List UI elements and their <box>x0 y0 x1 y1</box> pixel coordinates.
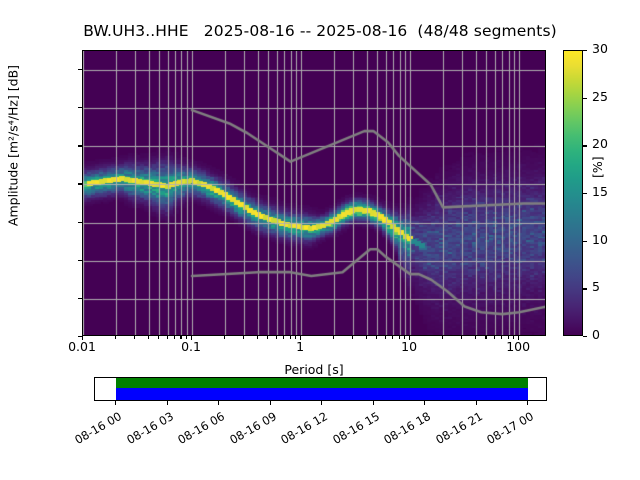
ppsd-plot-area <box>82 50 546 336</box>
x-axis-minor-tick-mark <box>134 336 135 339</box>
x-axis-minor-tick-mark <box>475 336 476 339</box>
colorbar-tick-mark <box>583 50 587 51</box>
colorbar-unit-label: [%] <box>590 156 605 178</box>
x-axis-minor-tick-mark <box>174 336 175 339</box>
x-axis-minor-tick-mark <box>148 336 149 339</box>
x-axis-tick-label: 0.01 <box>52 341 112 354</box>
colorbar-tick-label: 15 <box>592 186 632 199</box>
y-axis-tick-mark <box>78 298 82 299</box>
colorbar-tick-mark <box>583 288 587 289</box>
x-axis-minor-tick-mark <box>385 336 386 339</box>
x-axis-minor-tick-mark <box>267 336 268 339</box>
timeline-tick-label: 08-16 09 <box>221 409 278 450</box>
y-axis-label: Amplitude [m²/s⁴/Hz] [dB] <box>6 0 21 311</box>
timeline-band-green <box>116 378 528 388</box>
timeline-tick-mark <box>527 401 528 405</box>
y-axis-tick-mark <box>78 145 82 146</box>
timeline-tick-mark <box>424 401 425 405</box>
colorbar-tick-mark <box>583 241 587 242</box>
y-axis-tick-mark <box>78 69 82 70</box>
x-axis-tick-label: 1 <box>270 341 330 354</box>
timeline-tick-label: 08-16 21 <box>427 409 484 450</box>
timeline-band-blue <box>116 388 528 400</box>
colorbar <box>563 50 583 336</box>
colorbar-tick-mark <box>583 336 587 337</box>
page-title: BW.UH3..HHE 2025-08-16 -- 2025-08-16 (48… <box>0 22 640 40</box>
timeline-tick-mark <box>373 401 374 405</box>
y-axis-tick-mark <box>78 107 82 108</box>
x-axis-minor-tick-mark <box>224 336 225 339</box>
x-axis-minor-tick-mark <box>442 336 443 339</box>
x-axis-minor-tick-mark <box>461 336 462 339</box>
timeline-tick-label: 08-16 06 <box>170 409 227 450</box>
colorbar-tick-label: 10 <box>592 234 632 247</box>
colorbar-tick-label: 20 <box>592 138 632 151</box>
colorbar-gradient <box>564 51 582 335</box>
colorbar-tick-mark <box>583 145 587 146</box>
x-axis-minor-tick-mark <box>243 336 244 339</box>
timeline-tick-mark <box>270 401 271 405</box>
colorbar-tick-label: 0 <box>592 329 632 342</box>
x-axis-tick-label: 0.1 <box>161 341 221 354</box>
timeline-tick-mark <box>476 401 477 405</box>
timeline-tick-label: 08-16 00 <box>67 409 124 450</box>
x-axis-minor-tick-mark <box>115 336 116 339</box>
x-axis-minor-tick-mark <box>485 336 486 339</box>
y-axis-tick-mark <box>78 260 82 261</box>
x-axis-minor-tick-mark <box>333 336 334 339</box>
x-axis-minor-tick-mark <box>276 336 277 339</box>
timeline-coverage-bar <box>116 378 528 400</box>
colorbar-tick-mark <box>583 98 587 99</box>
colorbar-tick-label: 25 <box>592 91 632 104</box>
x-axis-minor-tick-mark <box>167 336 168 339</box>
x-axis-minor-tick-mark <box>352 336 353 339</box>
timeline-tick-label: 08-16 03 <box>118 409 175 450</box>
y-axis-tick-mark <box>78 183 82 184</box>
x-axis-minor-tick-mark <box>290 336 291 339</box>
colorbar-tick-label: 30 <box>592 43 632 56</box>
x-axis-minor-tick-mark <box>399 336 400 339</box>
x-axis-tick-label: 100 <box>488 341 548 354</box>
colorbar-tick-mark <box>583 193 587 194</box>
x-axis-tick-label: 10 <box>379 341 439 354</box>
x-axis-minor-tick-mark <box>283 336 284 339</box>
peterson-noise-model-curves <box>83 51 546 336</box>
timeline-tick-label: 08-16 15 <box>324 409 381 450</box>
x-axis-label: Period [s] <box>82 362 546 377</box>
x-axis-minor-tick-mark <box>376 336 377 339</box>
x-axis-minor-tick-mark <box>366 336 367 339</box>
x-axis-minor-tick-mark <box>494 336 495 339</box>
x-axis-minor-tick-mark <box>257 336 258 339</box>
timeline-tick-label: 08-16 18 <box>376 409 433 450</box>
x-axis-minor-tick-mark <box>392 336 393 339</box>
timeline-coverage-axes <box>94 377 547 401</box>
timeline-tick-label: 08-17 00 <box>479 409 536 450</box>
x-axis-minor-tick-mark <box>158 336 159 339</box>
timeline-tick-mark <box>218 401 219 405</box>
colorbar-tick-label: 5 <box>592 281 632 294</box>
x-axis-minor-tick-mark <box>501 336 502 339</box>
y-axis-tick-mark <box>78 222 82 223</box>
timeline-tick-mark <box>115 401 116 405</box>
timeline-tick-mark <box>167 401 168 405</box>
timeline-tick-label: 08-16 12 <box>273 409 330 450</box>
timeline-tick-mark <box>321 401 322 405</box>
